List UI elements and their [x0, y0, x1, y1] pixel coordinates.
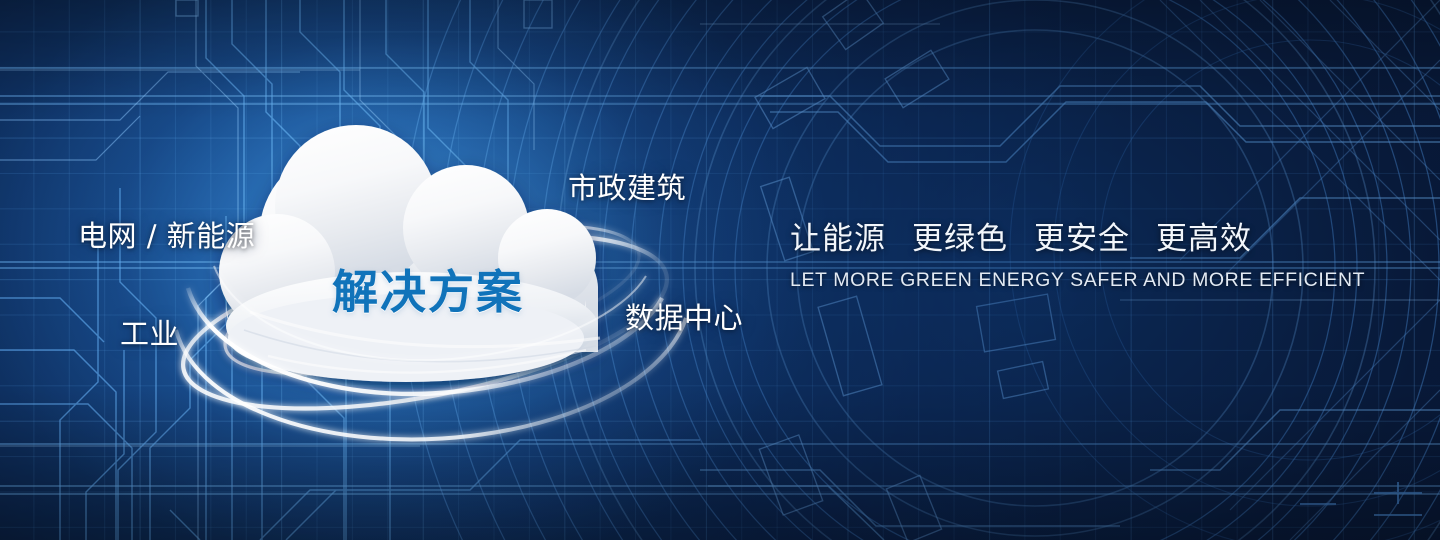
slogan-english: LET MORE GREEN ENERGY SAFER AND MORE EFF… — [790, 271, 1365, 291]
page-title: 解决方案 — [332, 256, 524, 322]
slogan-chinese: 让能源更绿色更安全更高效 — [790, 224, 1365, 255]
slogan-part-4: 更高效 — [1156, 221, 1252, 257]
label-data-center: 数据中心 — [625, 304, 743, 333]
slogan-part-1: 让能源 — [790, 221, 886, 257]
label-municipal-building: 市政建筑 — [568, 174, 686, 203]
label-industry: 工业 — [120, 320, 179, 349]
label-grid-new-energy: 电网 / 新能源 — [78, 222, 255, 251]
slogan-block: 让能源更绿色更安全更高效 LET MORE GREEN ENERGY SAFER… — [790, 224, 1365, 291]
slogan-part-2: 更绿色 — [912, 221, 1008, 257]
slogan-part-3: 更安全 — [1034, 221, 1130, 257]
solution-banner: 电网 / 新能源 工业 市政建筑 数据中心 解决方案 让能源更绿色更安全更高效 … — [0, 0, 1440, 540]
